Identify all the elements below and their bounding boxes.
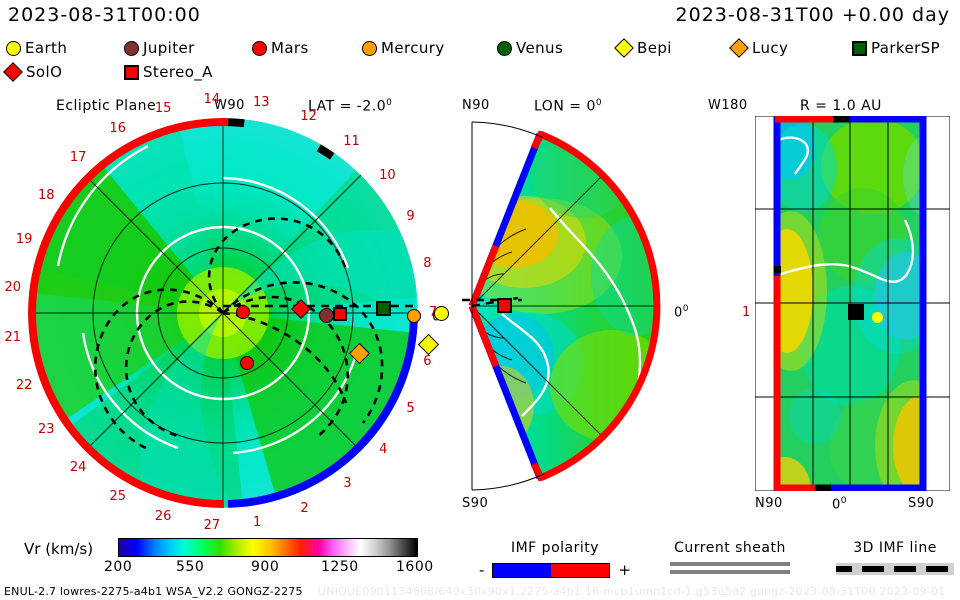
imf-3d-line-swatch <box>836 563 954 575</box>
current-sheath-title: Current sheath <box>650 540 810 556</box>
carrington-tick-9: 9 <box>406 209 414 224</box>
carrington-tick-26: 26 <box>155 509 172 524</box>
carrington-tick-5: 5 <box>406 401 414 416</box>
zero-text: 0 <box>832 497 841 512</box>
legend-item-parkersp[interactable]: ParkerSP <box>852 36 940 60</box>
lon-value: 0 <box>586 99 595 115</box>
carrington-tick-2: 2 <box>300 501 308 516</box>
imf-3d-line-title: 3D IMF line <box>830 540 960 556</box>
colorbar-tick: 900 <box>251 559 279 575</box>
legend-label: Bepi <box>637 39 672 57</box>
carrington-tick-4: 4 <box>379 442 387 457</box>
carrington-tick-16: 16 <box>110 121 127 136</box>
legend-label: Mars <box>271 39 309 57</box>
ecliptic-plane-panel[interactable]: Ecliptic Plane LAT = -2.00 W90 E90 00 <box>8 112 448 512</box>
synoptic-x-tick-s90: S90 <box>908 496 934 511</box>
carrington-tick-3: 3 <box>343 476 351 491</box>
degree-sup: 0 <box>596 98 602 108</box>
carrington-tick-21: 21 <box>4 330 21 345</box>
imf-positive-label: + <box>618 561 631 579</box>
earth-marker-icon <box>6 41 21 56</box>
meridional-vr-field <box>462 116 677 496</box>
meridional-lon-annotation: LON = 00 <box>534 98 602 115</box>
carrington-tick-23: 23 <box>38 422 55 437</box>
carrington-tick-14: 14 <box>204 92 221 107</box>
carrington-tick-10: 10 <box>379 168 396 183</box>
carrington-tick-7: 7 <box>429 305 437 320</box>
legend-item-jupiter[interactable]: Jupiter <box>124 36 252 60</box>
colorbar-gradient[interactable] <box>118 538 418 557</box>
bepi-marker-icon <box>614 38 634 58</box>
jupiter-marker-icon <box>124 41 139 56</box>
parkersp-marker-icon <box>852 41 867 56</box>
carrington-longitude-ticks: 1234567891011121314151617181920212223242… <box>8 112 448 512</box>
legend-item-solo[interactable]: SolO <box>6 60 124 84</box>
legend-item-earth[interactable]: Earth <box>6 36 124 60</box>
meridional-n90-label: N90 <box>462 98 490 113</box>
colorbar-tick: 1600 <box>396 559 434 575</box>
legend-label: Stereo_A <box>143 63 213 81</box>
solo-marker-icon <box>3 62 23 82</box>
body-legend-row-1: Earth Jupiter Mars Mercury Venus Bepi Lu… <box>6 36 956 60</box>
body-legend-row-2: SolO Stereo_A <box>6 60 956 84</box>
synoptic-panel-title: R = 1.0 AU <box>800 98 882 114</box>
body-legend: Earth Jupiter Mars Mercury Venus Bepi Lu… <box>6 36 956 84</box>
legend-item-lucy[interactable]: Lucy <box>732 36 852 60</box>
degree-sup: 0 <box>841 496 847 506</box>
meridional-s90-label: S90 <box>462 496 488 511</box>
synoptic-y-tick-1: 1 <box>742 305 750 320</box>
degree-sup: 0 <box>386 98 392 108</box>
legend-label: Jupiter <box>143 39 195 57</box>
timestamp-left: 2023-08-31T00:00 <box>8 4 201 26</box>
current-sheath-swatch <box>670 562 790 574</box>
venus-marker-icon <box>497 41 512 56</box>
imf-polarity-bar <box>492 563 610 578</box>
synoptic-x-tick-n90: N90 <box>755 496 783 511</box>
colorbar-tick: 550 <box>176 559 204 575</box>
colorbar-tick: 1250 <box>321 559 359 575</box>
colorbar-block: Vr (km/s) 200 550 900 1250 1600 <box>8 534 458 586</box>
legend-item-mercury[interactable]: Mercury <box>362 36 497 60</box>
carrington-tick-15: 15 <box>155 101 172 116</box>
legend-label: Earth <box>25 39 67 57</box>
mars-marker-icon <box>252 41 267 56</box>
colorbar-label: Vr (km/s) <box>24 540 93 558</box>
legend-label: Mercury <box>381 39 445 57</box>
carrington-tick-17: 17 <box>70 150 87 165</box>
carrington-tick-1: 1 <box>253 515 261 530</box>
synoptic-1au-panel[interactable]: W180 R = 1.0 AU 1 N90 00 S90 <box>700 112 950 512</box>
timestamp-right: 2023-08-31T00 +0.00 day <box>676 4 950 26</box>
carrington-tick-6: 6 <box>423 354 431 369</box>
degree-sup: 0 <box>683 304 689 314</box>
colorbar-tick: 200 <box>104 559 132 575</box>
imf-positive-swatch <box>551 564 609 577</box>
carrington-tick-19: 19 <box>16 232 33 247</box>
legend-item-stereo-a[interactable]: Stereo_A <box>124 60 213 84</box>
carrington-tick-11: 11 <box>343 134 360 149</box>
current-sheath-legend: Current sheath <box>650 540 810 574</box>
legend-item-bepi[interactable]: Bepi <box>617 36 732 60</box>
carrington-tick-8: 8 <box>423 256 431 271</box>
lucy-marker-icon <box>729 38 749 58</box>
footer-model-info: ENUL-2.7 lowres-2275-a4b1 WSA_V2.2 GONGZ… <box>4 585 303 598</box>
legend-label: ParkerSP <box>871 39 940 57</box>
imf-negative-swatch <box>493 564 551 577</box>
imf-negative-label: - <box>479 561 484 579</box>
carrington-tick-12: 12 <box>300 109 317 124</box>
imf-polarity-legend: IMF polarity - + <box>470 540 640 579</box>
carrington-tick-22: 22 <box>16 378 33 393</box>
synoptic-x-tick-zero: 00 <box>832 496 847 512</box>
carrington-tick-25: 25 <box>110 489 127 504</box>
lon-label: LON = <box>534 99 581 115</box>
carrington-tick-27: 27 <box>204 518 221 533</box>
mercury-marker-icon <box>362 41 377 56</box>
carrington-tick-20: 20 <box>4 280 21 295</box>
imf-polarity-title: IMF polarity <box>470 540 640 556</box>
earth-marker-box-icon <box>848 304 864 320</box>
legend-item-venus[interactable]: Venus <box>497 36 617 60</box>
imf-3d-line-legend: 3D IMF line <box>830 540 960 575</box>
carrington-tick-13: 13 <box>253 95 270 110</box>
synoptic-w180-label: W180 <box>708 98 748 113</box>
stereo-a-marker-icon <box>124 65 139 80</box>
carrington-tick-24: 24 <box>70 460 87 475</box>
footer-unique-id: UNIQUE0901134608/640x30x90x1.2275-a4b1.1… <box>318 585 945 598</box>
legend-label: Lucy <box>752 39 788 57</box>
stereo-a-marker-icon[interactable] <box>497 298 512 313</box>
carrington-tick-18: 18 <box>38 188 55 203</box>
legend-label: SolO <box>26 63 62 81</box>
meridional-plane-panel[interactable]: N90 LON = 00 S90 00 <box>462 112 692 512</box>
legend-label: Venus <box>516 39 563 57</box>
legend-item-mars[interactable]: Mars <box>252 36 362 60</box>
